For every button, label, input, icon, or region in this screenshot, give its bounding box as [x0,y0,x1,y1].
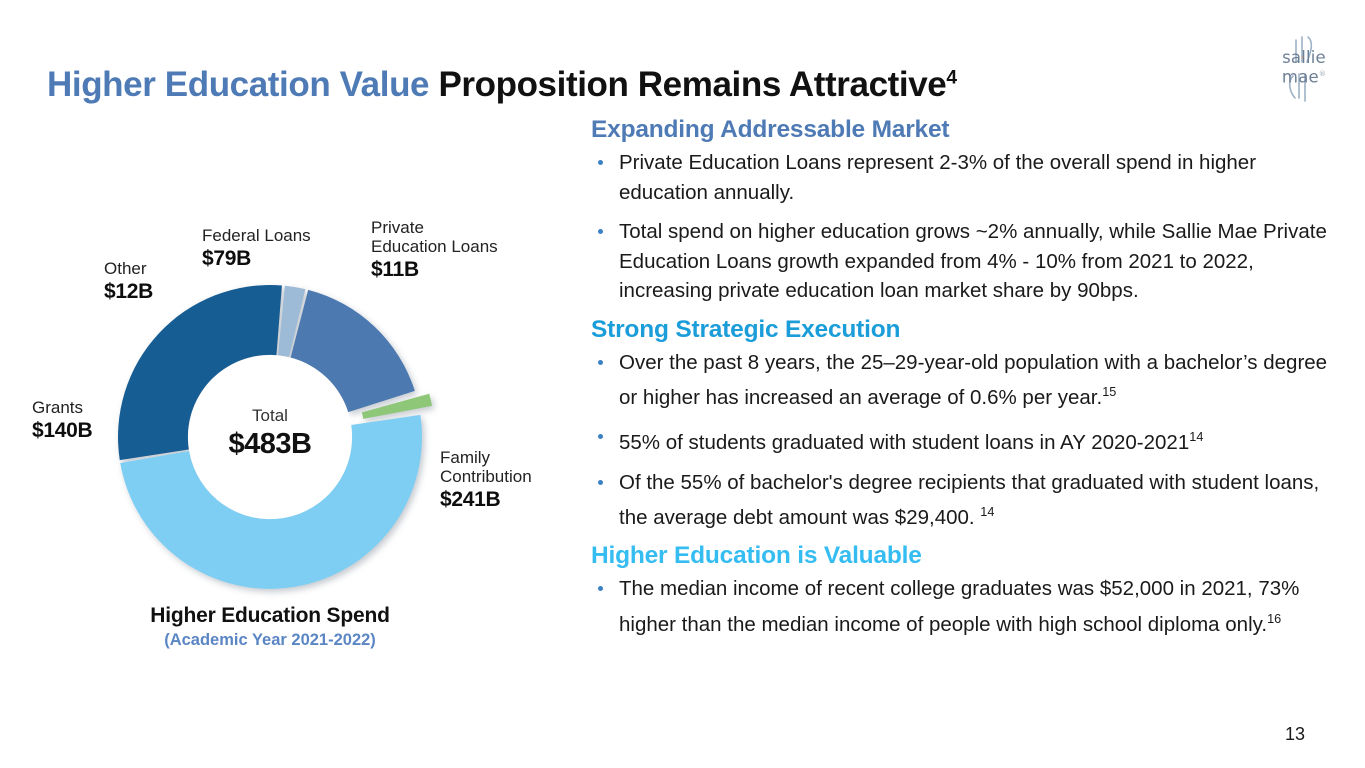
segment-label-grants: Grants $140B [32,398,142,443]
bullet-list: The median income of recent college grad… [591,574,1336,639]
bullet-text: Of the 55% of bachelor's degree recipien… [619,471,1319,529]
bullet-text: The median income of recent college grad… [619,577,1299,635]
bullet-item: Of the 55% of bachelor's degree recipien… [591,468,1336,533]
bullet-text: Over the past 8 years, the 25–29-year-ol… [619,351,1327,409]
bullet-footnote: 14 [1189,429,1203,444]
page-title-accent: Higher Education Value [47,65,429,104]
segment-label-private-education-loans-name: Private Education Loans [371,218,536,256]
bullet-text: 55% of students graduated with student l… [619,431,1189,454]
bullet-item: Total spend on higher education grows ~2… [591,217,1336,306]
segment-label-federal-loans-name: Federal Loans [202,226,362,245]
bullet-footnote: 15 [1102,384,1116,399]
content-section: Strong Strategic ExecutionOver the past … [591,316,1336,533]
page-number: 13 [1285,724,1305,745]
segment-label-family-contribution-name: Family Contribution [440,448,590,486]
segment-label-private-education-loans: Private Education Loans $11B [371,218,536,282]
logo-line-2: mae® [1271,66,1337,86]
bullet-footnote: 16 [1267,611,1281,626]
donut-center-title: Total [195,407,345,424]
bullet-dot-icon [598,480,603,485]
segment-label-other: Other $12B [104,259,214,304]
chart-caption-title: Higher Education Spend [30,604,510,628]
segment-label-private-education-loans-value: $11B [371,258,536,282]
segment-label-family-contribution-value: $241B [440,488,590,512]
section-heading: Higher Education is Valuable [591,542,1336,570]
segment-label-grants-name: Grants [32,398,142,417]
page-title-plain: Proposition Remains Attractive [429,65,946,104]
logo-wordmark: sallie mae® [1271,49,1337,86]
donut-center-value: $483B [195,430,345,459]
bullet-item: Private Education Loans represent 2-3% o… [591,148,1336,207]
chart-caption-subtitle: (Academic Year 2021-2022) [30,631,510,650]
higher-education-spend-chart: Total $483B Other $12B Federal Loans $79… [0,180,580,680]
bullet-item: Over the past 8 years, the 25–29-year-ol… [591,348,1336,413]
segment-label-grants-value: $140B [32,419,142,443]
section-heading: Strong Strategic Execution [591,316,1336,344]
bullet-dot-icon [598,160,603,165]
sallie-mae-logo: sallie mae® [1271,32,1337,104]
bullet-item: The median income of recent college grad… [591,574,1336,639]
bullet-list: Over the past 8 years, the 25–29-year-ol… [591,348,1336,533]
bullet-dot-icon [598,434,603,439]
chart-caption: Higher Education Spend (Academic Year 20… [30,604,510,650]
bullet-text: Total spend on higher education grows ~2… [619,220,1327,302]
segment-label-other-value: $12B [104,280,214,304]
donut-center-label: Total $483B [195,407,345,459]
segment-label-federal-loans: Federal Loans $79B [202,226,362,271]
logo-line-1: sallie [1271,49,1337,66]
bullet-dot-icon [598,360,603,365]
bullet-list: Private Education Loans represent 2-3% o… [591,148,1336,306]
page-title: Higher Education Value Proposition Remai… [47,65,957,105]
bullet-dot-icon [598,586,603,591]
bullet-dot-icon [598,229,603,234]
content-column: Expanding Addressable MarketPrivate Educ… [591,116,1336,649]
bullet-item: 55% of students graduated with student l… [591,422,1336,457]
logo-trademark: ® [1319,70,1326,78]
segment-label-federal-loans-value: $79B [202,247,362,271]
bullet-footnote: 14 [980,504,994,519]
content-section: Higher Education is ValuableThe median i… [591,542,1336,639]
section-heading: Expanding Addressable Market [591,116,1336,144]
segment-label-family-contribution: Family Contribution $241B [440,448,590,512]
segment-label-other-name: Other [104,259,214,278]
bullet-text: Private Education Loans represent 2-3% o… [619,151,1256,204]
page-title-footnote: 4 [946,68,956,89]
content-section: Expanding Addressable MarketPrivate Educ… [591,116,1336,306]
